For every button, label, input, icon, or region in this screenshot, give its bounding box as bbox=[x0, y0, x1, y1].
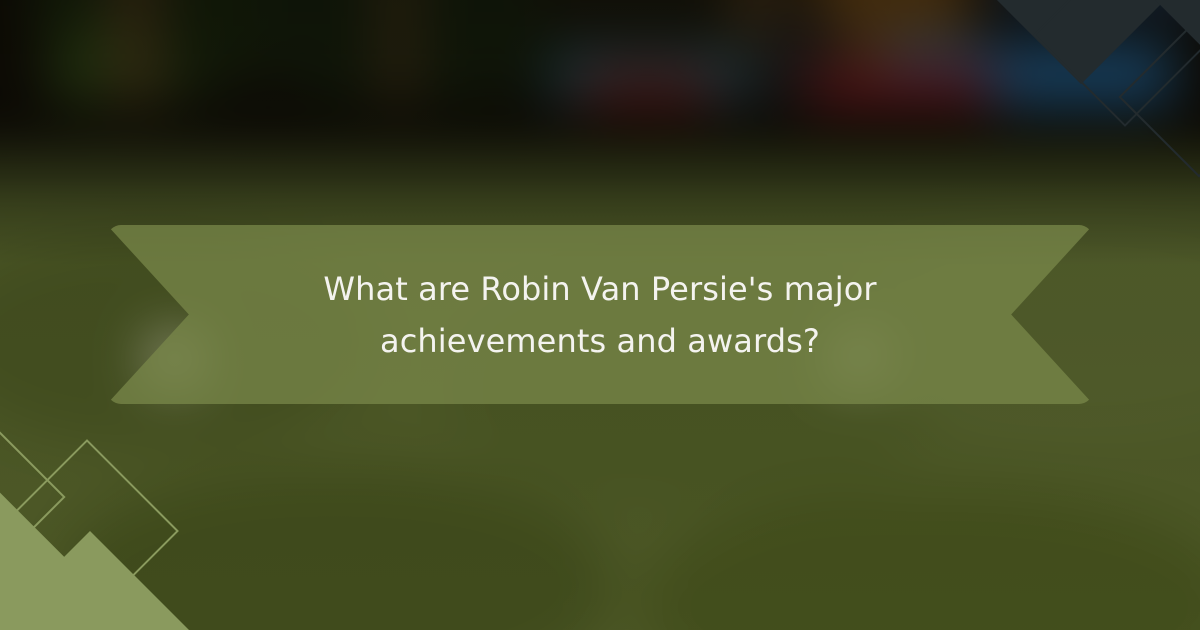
question-line-1: What are Robin Van Persie's major bbox=[323, 263, 876, 315]
question-text: What are Robin Van Persie's major achiev… bbox=[107, 225, 1093, 404]
question-line-2: achievements and awards? bbox=[380, 315, 820, 367]
question-banner-card: What are Robin Van Persie's major achiev… bbox=[0, 0, 1200, 630]
question-ribbon: What are Robin Van Persie's major achiev… bbox=[107, 225, 1093, 404]
